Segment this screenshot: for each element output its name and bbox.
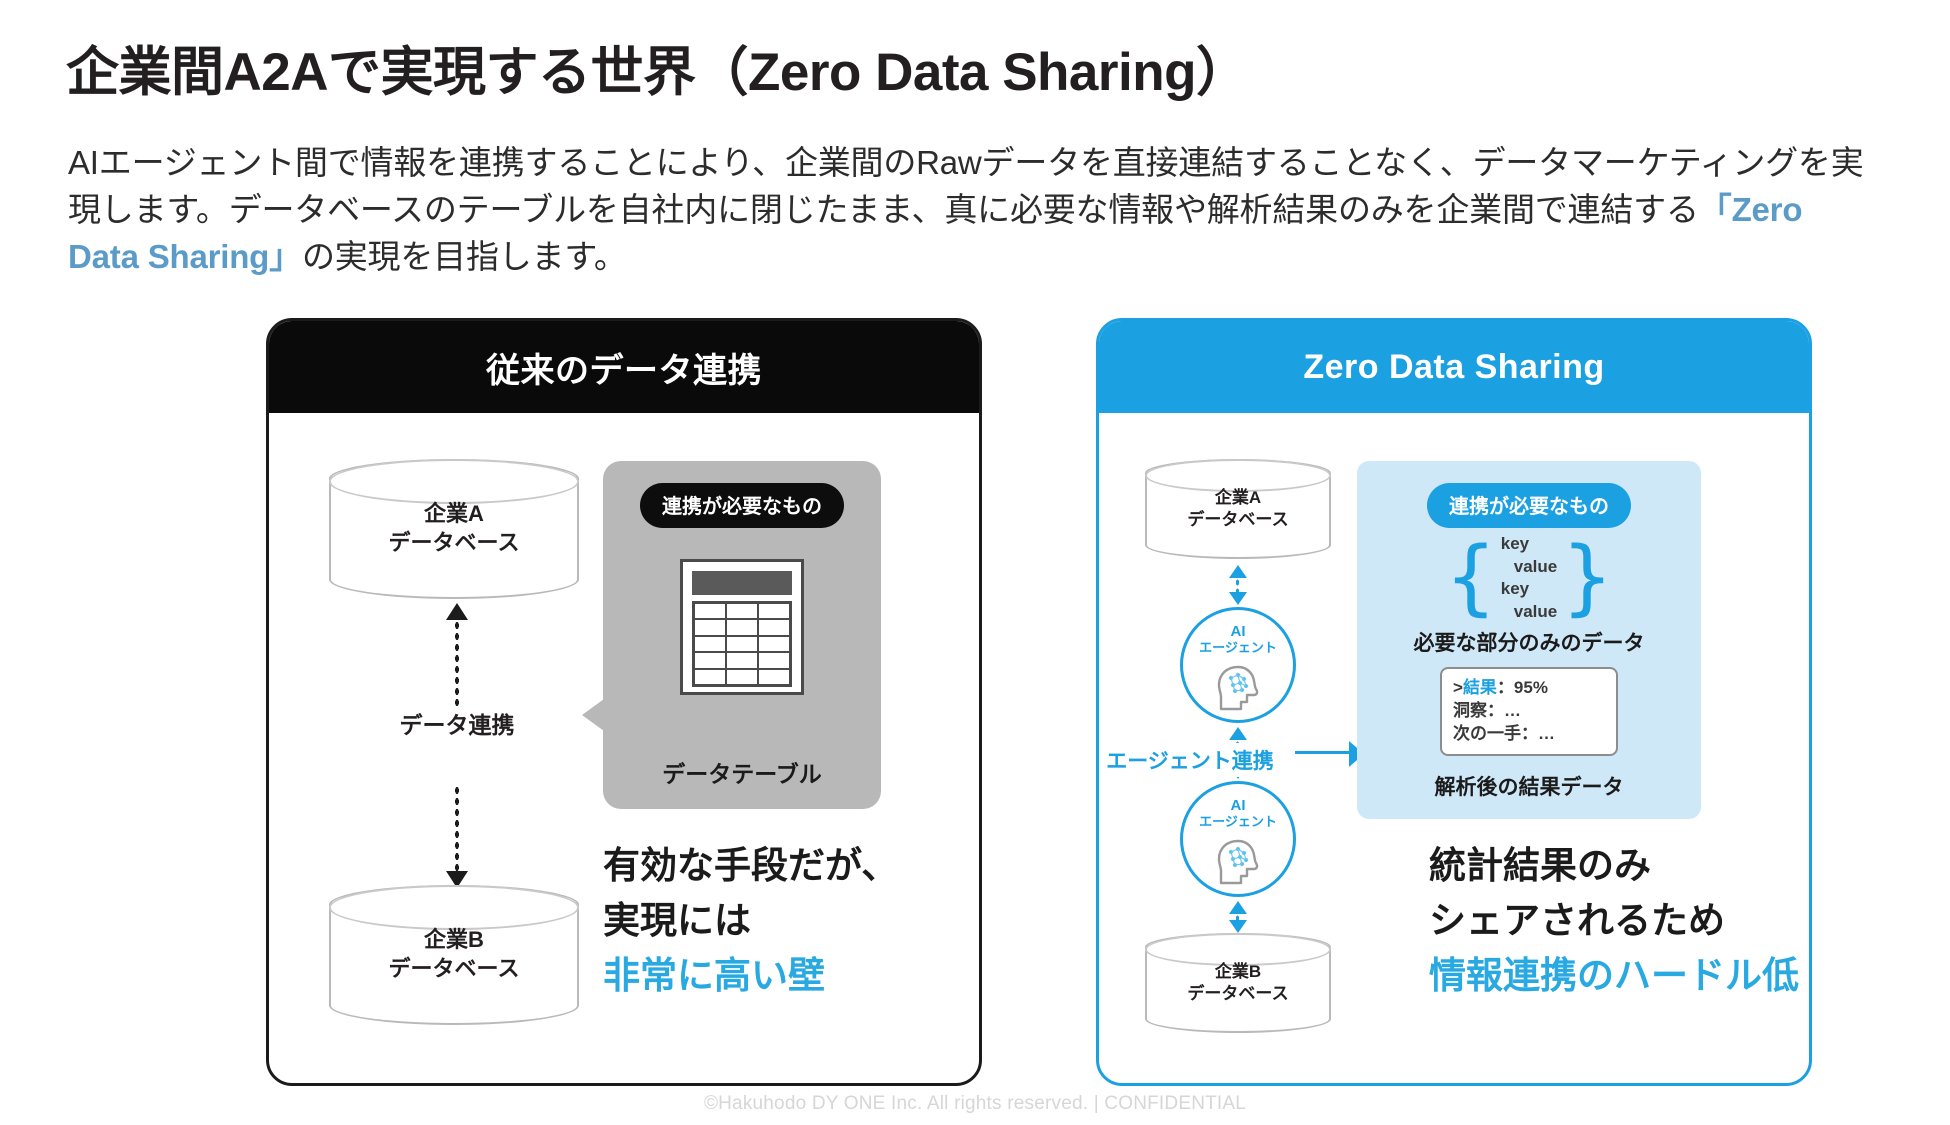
kv-line-3: key (1501, 579, 1529, 598)
table-icon-cell (726, 669, 758, 685)
table-icon-cell (758, 636, 790, 652)
result-value: ：95% (1497, 678, 1548, 697)
db-a-line1: 企業A (424, 501, 484, 526)
data-linkage-double-arrow (444, 603, 470, 888)
ai-agent-line1: AI (1231, 623, 1246, 640)
connector-arrow-to-bluebox (1295, 751, 1361, 754)
database-cylinder-company-b-zds: 企業B データベース (1145, 933, 1331, 1033)
panel-conventional-data-linkage: 従来のデータ連携 企業A データベース データ連携 企業B (266, 318, 982, 1086)
key-value-lines: key value key value (1501, 533, 1557, 623)
database-label-company-a: 企業A データベース (389, 500, 520, 557)
db-b-zds-line2: データベース (1187, 984, 1288, 1003)
arrow-dotted-segment (1235, 578, 1240, 592)
arrow-head-up-icon (446, 603, 468, 620)
kv-line-2: value (1501, 557, 1557, 576)
arrow-head-up-icon (1229, 727, 1247, 740)
callout-pill-label: 連携が必要なもの (640, 483, 844, 528)
page-subtitle: AIエージェント間で情報を連携することにより、企業間のRawデータを直接連結する… (68, 140, 1878, 281)
table-icon-cell (758, 619, 790, 635)
page-title: 企業間A2Aで実現する世界（Zero Data Sharing） (66, 30, 1249, 106)
bluebox-required-for-linkage: 連携が必要なもの { key value key value } 必要な部分のみ… (1357, 461, 1701, 819)
blue-double-arrow-db-a-to-agent (1228, 565, 1248, 605)
kv-line-4: value (1501, 602, 1557, 621)
arrow-head-down-icon (1229, 920, 1247, 933)
data-linkage-arrow-label: データ連携 (367, 706, 547, 740)
db-a-line2: データベース (389, 530, 520, 555)
ai-agent-circle-upper: AI エージェント (1180, 607, 1296, 723)
database-label-company-a-zds: 企業A データベース (1187, 487, 1288, 531)
right-conclusion-line1: 統計結果のみ (1429, 839, 1799, 894)
subtitle-text-part1: AIエージェント間で情報を連携することにより、企業間のRawデータを直接連結する… (68, 144, 1864, 228)
db-a-zds-line1: 企業A (1215, 488, 1261, 507)
callout-caption-data-table: データテーブル (603, 755, 881, 789)
table-icon-cell (726, 652, 758, 668)
ai-agent-line2: エージェント (1183, 815, 1293, 830)
arrow-head-down-icon (1229, 592, 1247, 605)
right-conclusion-text: 統計結果のみ シェアされるため 情報連携のハードル低 (1429, 839, 1799, 1003)
subtitle-text-part2: の実現を目指します。 (302, 238, 627, 275)
result-line-2: 洞察：… (1453, 701, 1521, 720)
blue-double-arrow-agent-to-db-b (1228, 901, 1248, 933)
arrow-head-up-icon (1229, 901, 1247, 914)
right-conclusion-line2: シェアされるため (1429, 894, 1799, 949)
panel-right-body: 企業A データベース AI エージェント (1099, 413, 1809, 1083)
data-table-icon (680, 559, 804, 695)
bluebox-caption-result-data: 解析後の結果データ (1357, 771, 1701, 801)
table-icon-cell (726, 603, 758, 619)
database-label-company-b: 企業B データベース (389, 926, 520, 983)
table-icon-cell (694, 619, 726, 635)
table-icon-cell (694, 669, 726, 685)
analysis-result-box: >結果：95% 洞察：… 次の一手：… (1440, 667, 1618, 756)
database-cylinder-company-a: 企業A データベース (329, 459, 579, 599)
left-conclusion-line3-highlight: 非常に高い壁 (603, 949, 898, 1004)
table-icon-cell (694, 652, 726, 668)
ai-agent-line1: AI (1231, 797, 1246, 814)
db-b-line1: 企業B (424, 927, 484, 952)
ai-agent-line2: エージェント (1183, 641, 1293, 656)
result-key-highlight: 結果 (1463, 678, 1497, 697)
arrow-dotted-segment-lower (454, 785, 460, 871)
left-brace-icon: { (1445, 547, 1497, 609)
table-icon-cell (726, 636, 758, 652)
footer-copyright: ©Hakuhodo DY ONE Inc. All rights reserve… (0, 1093, 1950, 1115)
db-a-zds-line2: データベース (1187, 510, 1288, 529)
ai-agent-circle-lower: AI エージェント (1180, 781, 1296, 897)
table-icon-cell (758, 669, 790, 685)
result-line-3: 次の一手：… (1453, 724, 1555, 743)
panel-right-header: Zero Data Sharing (1099, 321, 1809, 413)
table-icon-cell (758, 603, 790, 619)
table-icon-grid (692, 601, 792, 687)
arrow-dotted-segment-upper (454, 620, 460, 706)
table-icon-header-bar (692, 571, 792, 595)
bluebox-pill-label: 連携が必要なもの (1427, 483, 1631, 528)
table-icon-cell (694, 603, 726, 619)
table-icon-cell (726, 619, 758, 635)
database-cylinder-company-b: 企業B データベース (329, 885, 579, 1025)
panel-left-body: 企業A データベース データ連携 企業B データベース (269, 413, 979, 1083)
slide-root: 企業間A2Aで実現する世界（Zero Data Sharing） AIエージェン… (0, 0, 1950, 1125)
left-conclusion-line1: 有効な手段だが、 (603, 839, 898, 894)
panel-zero-data-sharing: Zero Data Sharing 企業A データベース AI エージェント (1096, 318, 1812, 1086)
ai-agent-label-upper: AI エージェント (1183, 624, 1293, 655)
table-icon-cell (694, 636, 726, 652)
kv-line-1: key (1501, 534, 1529, 553)
right-brace-icon: } (1561, 547, 1613, 609)
result-line-1: >結果：95% (1453, 678, 1548, 697)
ai-agent-label-lower: AI エージェント (1183, 798, 1293, 829)
agent-linkage-label: エージェント連携 (1096, 743, 1299, 777)
ai-brain-head-icon (1211, 838, 1265, 886)
table-icon-cell (758, 652, 790, 668)
database-cylinder-company-a-zds: 企業A データベース (1145, 459, 1331, 559)
callout-required-for-linkage: 連携が必要なもの データテーブル (603, 461, 881, 809)
result-prefix: > (1453, 678, 1463, 697)
arrow-head-up-icon (1229, 565, 1247, 578)
right-conclusion-line3-highlight: 情報連携のハードル低 (1429, 949, 1799, 1004)
bluebox-caption-partial-data: 必要な部分のみのデータ (1357, 627, 1701, 657)
left-conclusion-text: 有効な手段だが、 実現には 非常に高い壁 (603, 839, 898, 1003)
panel-left-header: 従来のデータ連携 (269, 321, 979, 413)
key-value-braces-group: { key value key value } (1445, 533, 1614, 623)
left-conclusion-line2: 実現には (603, 894, 898, 949)
ai-brain-head-icon (1211, 664, 1265, 712)
db-b-zds-line1: 企業B (1215, 962, 1261, 981)
db-b-line2: データベース (389, 956, 520, 981)
database-label-company-b-zds: 企業B データベース (1187, 961, 1288, 1005)
